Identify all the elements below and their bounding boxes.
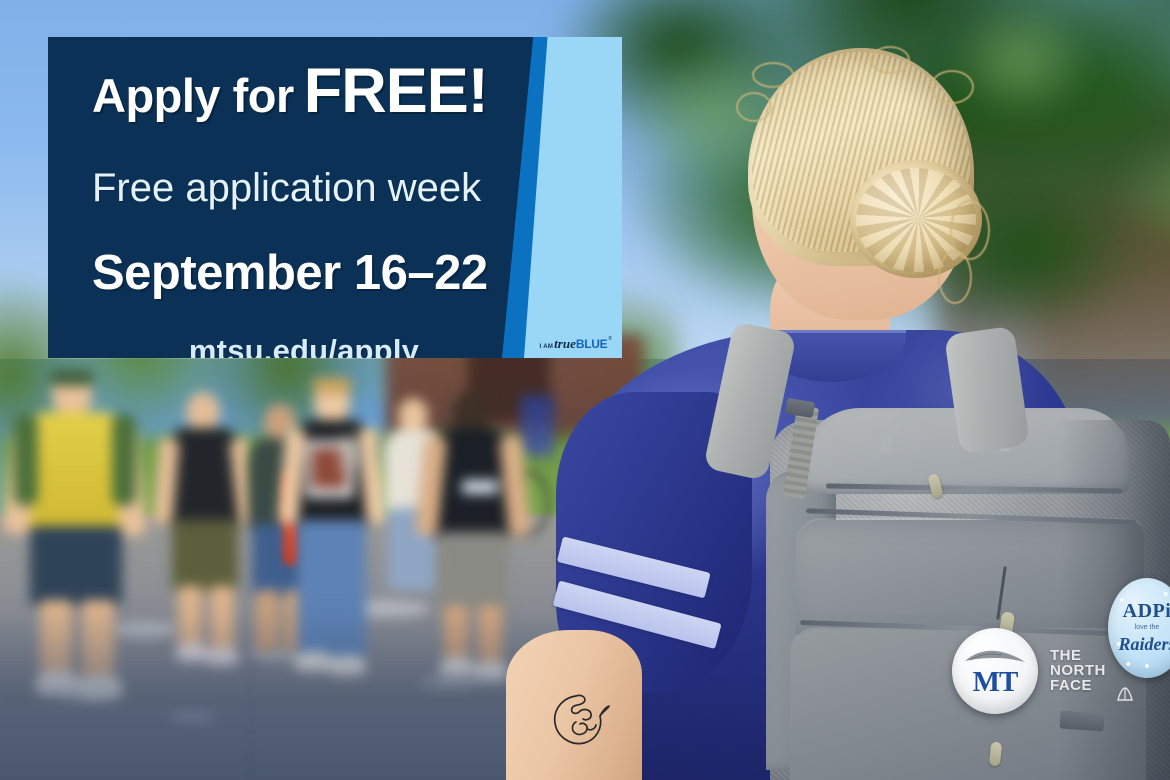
hair-wisp: [870, 46, 910, 74]
logo-registered-mark: ®: [608, 336, 612, 342]
true-blue-logo: I AM true BLUE ®: [540, 336, 612, 352]
compression-buckle: [1059, 710, 1104, 731]
banner-url[interactable]: mtsu.edu/apply: [92, 333, 516, 358]
headline-emphasis: FREE!: [304, 56, 488, 126]
mt-wing-icon: [964, 648, 1026, 666]
hair-wisp: [938, 250, 972, 304]
headline-prefix: Apply for: [92, 69, 294, 122]
hair-wisp: [752, 62, 794, 88]
mt-pin-label: MT: [952, 666, 1038, 699]
mt-pin: MT: [952, 628, 1038, 714]
promo-banner: Apply forFREE! Free application week Sep…: [48, 37, 622, 358]
logo-blue-text: BLUE: [576, 337, 607, 351]
adpi-pin-script: Raiders: [1108, 634, 1170, 655]
logo-true-text: true: [554, 336, 576, 352]
logo-iam-text: I AM: [540, 344, 554, 350]
hair-wisp: [930, 70, 974, 104]
adpi-pin-label: ADPi: [1108, 600, 1170, 623]
north-face-logo-icon: [1116, 686, 1134, 702]
adpi-pin-sub: love the: [1108, 624, 1170, 631]
hair-wisp: [736, 92, 772, 122]
banner-headline: Apply forFREE!: [92, 55, 522, 127]
banner-subhead: Free application week: [92, 166, 481, 211]
banner-dates: September 16–22: [92, 245, 488, 301]
globe-tattoo: [546, 690, 614, 752]
promotional-image: THE NORTH FACE MT: [0, 0, 1170, 780]
